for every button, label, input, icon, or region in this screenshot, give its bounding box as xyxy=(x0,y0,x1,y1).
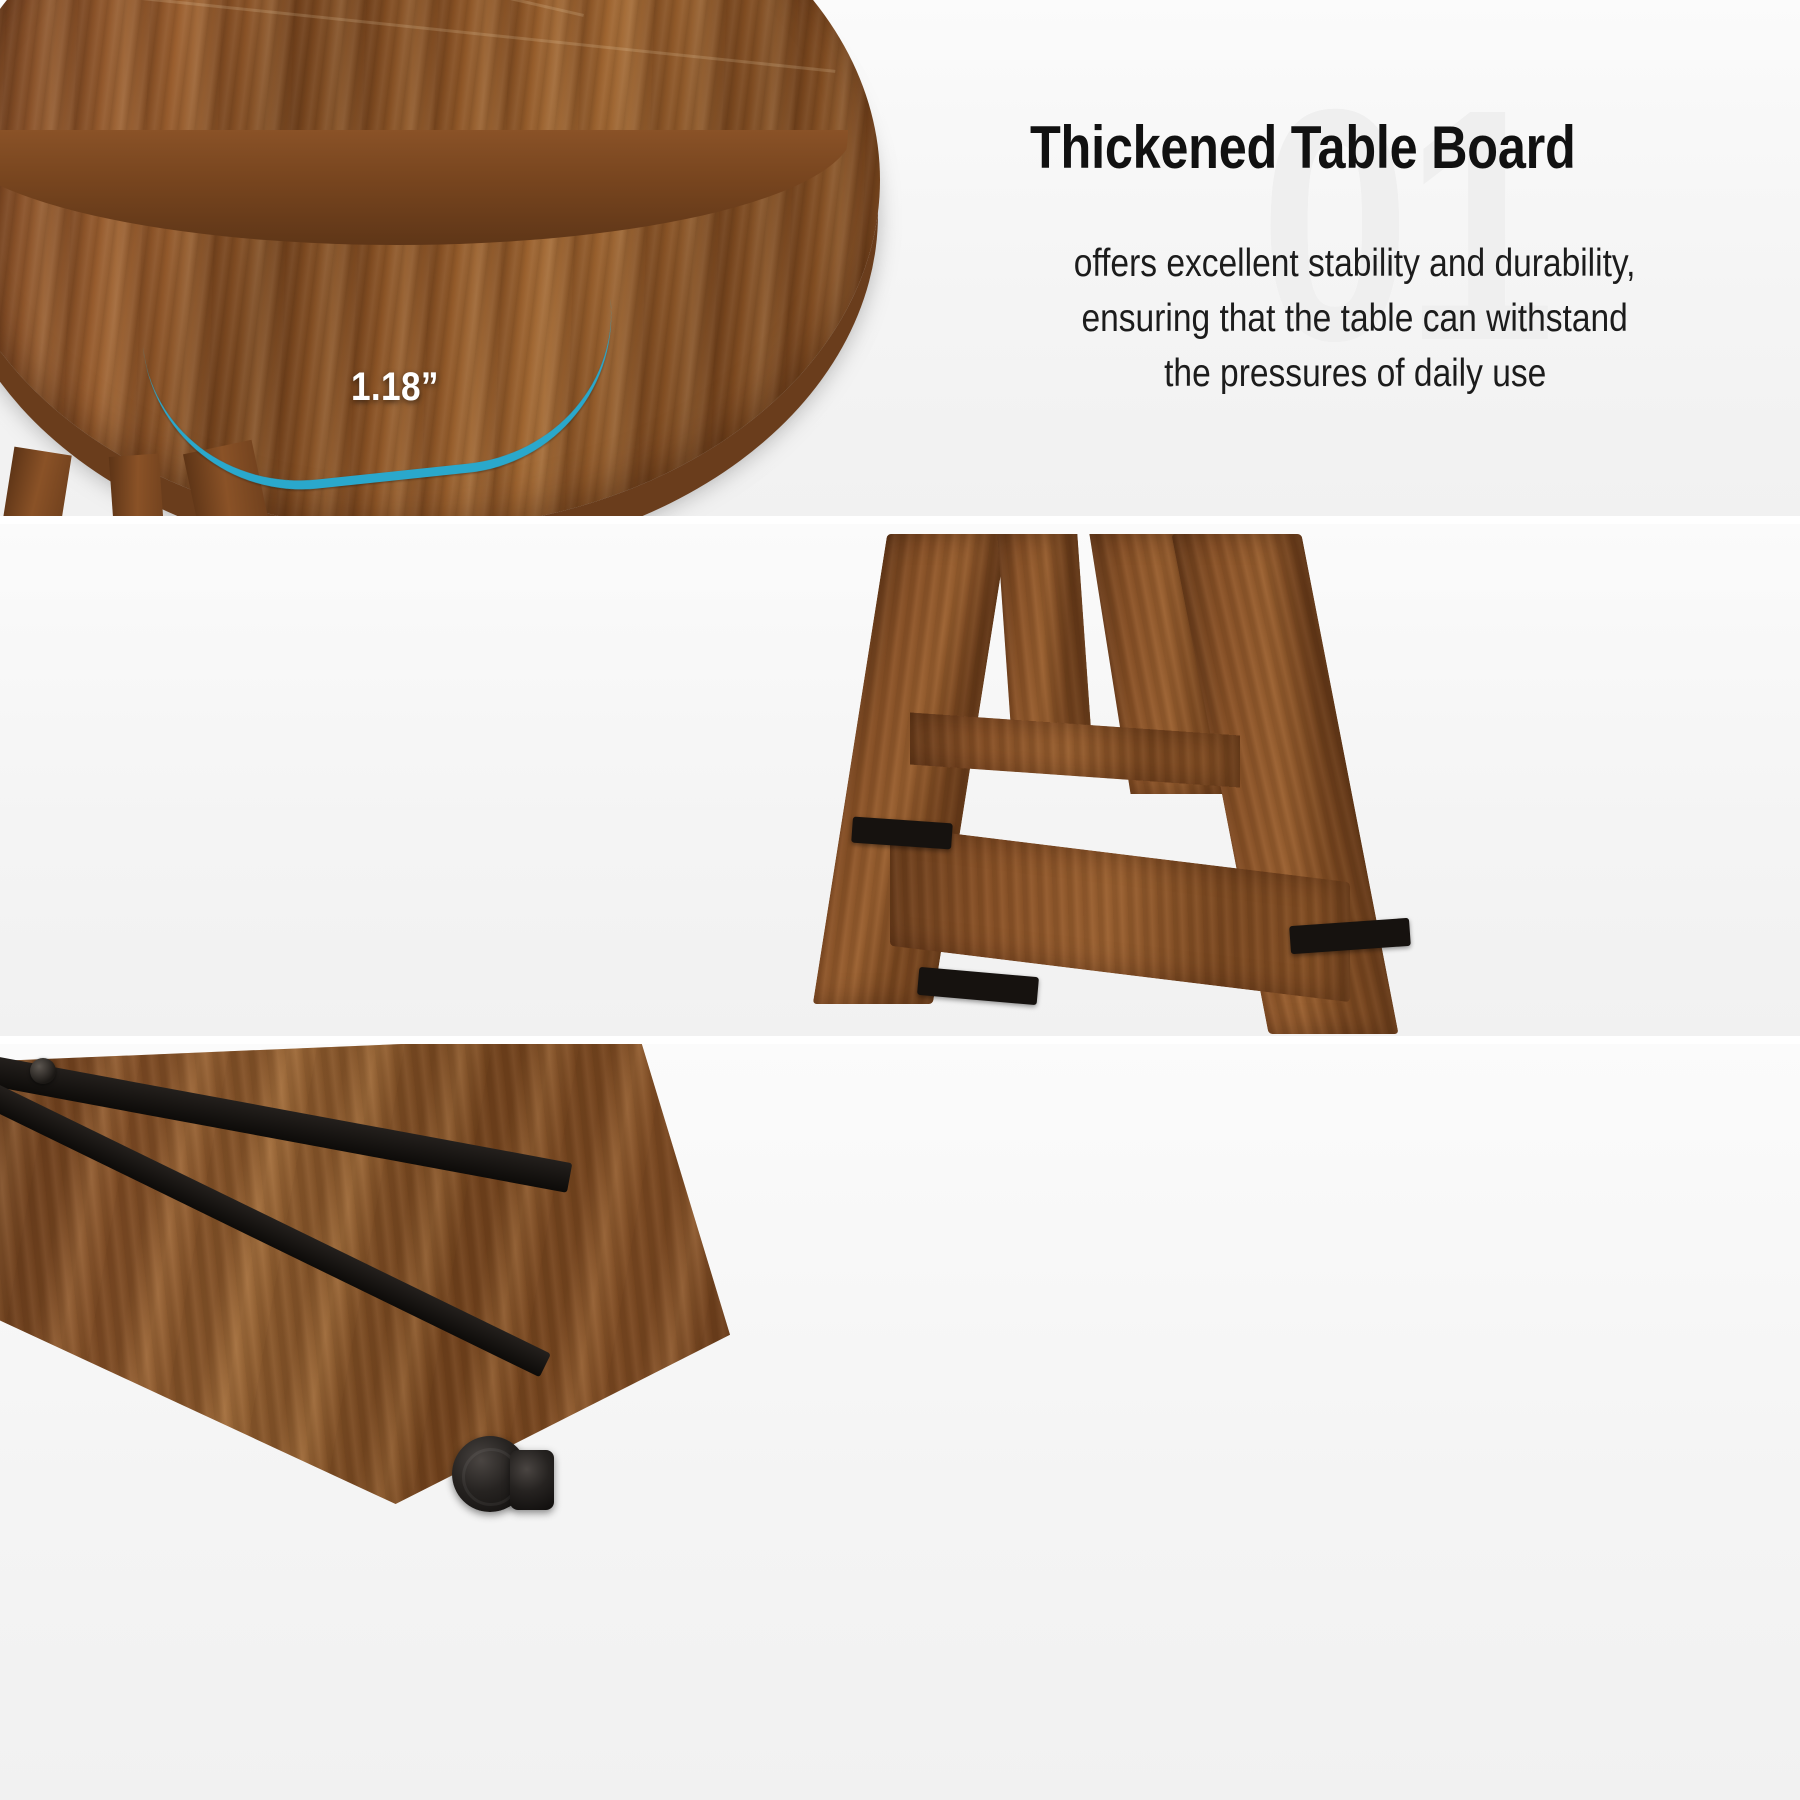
table-base-photo xyxy=(790,524,1800,1036)
foot-pad xyxy=(917,967,1039,1005)
table-leg xyxy=(0,447,72,516)
panel-divider xyxy=(0,516,1800,524)
feature-panel-adjustable-foot-pads: 03 Adjustable Foot Pads not only provide… xyxy=(0,1044,1800,1800)
dimension-value: 1.18” xyxy=(351,365,439,410)
feature-panel-thickened-table-board: 1.18” 01 Thickened Table Board offers ex… xyxy=(0,0,1800,516)
feature-panel-stable-table-base: 1.57” 02 Stable Table Base maximizes sup… xyxy=(0,524,1800,1036)
panel-body-text: offers excellent stability and durabilit… xyxy=(960,236,1750,402)
screw-icon xyxy=(30,1058,56,1084)
panel-text-block-01: Thickened Table Board offers excellent s… xyxy=(960,116,1750,402)
panel-heading: Thickened Table Board xyxy=(960,116,1750,180)
product-feature-infographic: 1.18” 01 Thickened Table Board offers ex… xyxy=(0,0,1800,1800)
dimension-label-thickness: 1.18” xyxy=(345,365,445,410)
table-underside-photo xyxy=(0,1044,900,1800)
panel-divider xyxy=(0,1036,1800,1044)
foot-pad-stem xyxy=(510,1450,554,1510)
